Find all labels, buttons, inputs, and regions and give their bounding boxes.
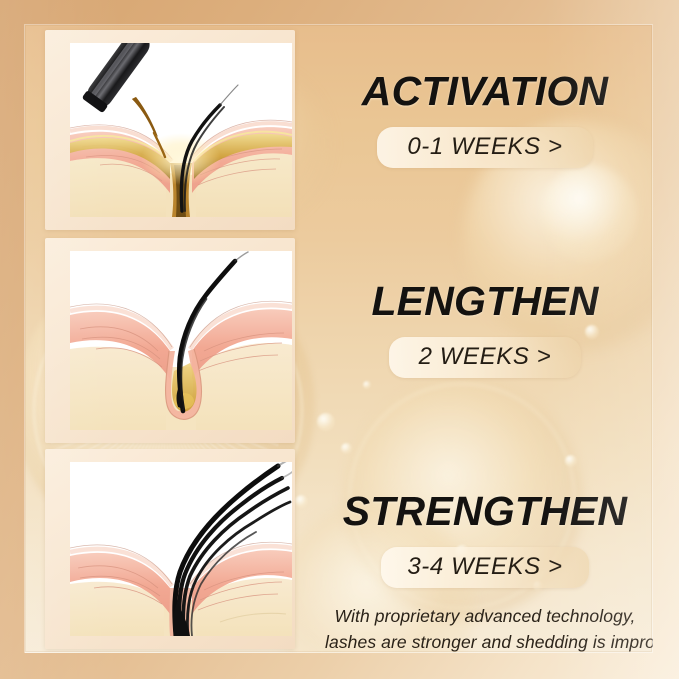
single-long-lash-follicle-icon [70, 251, 292, 430]
step-title-lengthen: LENGTHEN [325, 281, 645, 323]
droplet-icon [317, 413, 335, 431]
step-text-strengthen: STRENGTHEN 3-4 WEEKS > With proprietary … [325, 491, 645, 653]
step-text-lengthen: LENGTHEN 2 WEEKS > [325, 281, 645, 378]
step-illustration-lengthen [45, 238, 295, 443]
step-illustration-activation [45, 30, 295, 230]
poster-canvas: ACTIVATION 0-1 WEEKS > LENGTHEN 2 WEEKS … [25, 25, 653, 653]
droplet-icon [295, 495, 308, 508]
illustration-image-strengthen [70, 462, 292, 636]
step-badge-lengthen[interactable]: 2 WEEKS > [389, 337, 582, 378]
step-description-line-2: lashes are stronger and shedding is impr… [325, 630, 645, 653]
step-badge-activation[interactable]: 0-1 WEEKS > [377, 127, 592, 168]
step-description: With proprietary advanced technology, la… [325, 604, 645, 653]
serum-applicator-on-follicle-icon [70, 43, 292, 217]
step-title-strengthen: STRENGTHEN [325, 491, 645, 533]
droplet-icon [363, 381, 371, 389]
illustration-image-activation [70, 43, 292, 217]
droplet-icon [565, 455, 577, 467]
step-badge-strengthen[interactable]: 3-4 WEEKS > [381, 547, 588, 588]
infographic-poster: ACTIVATION 0-1 WEEKS > LENGTHEN 2 WEEKS … [0, 0, 679, 679]
step-illustration-strengthen [45, 449, 295, 649]
illustration-image-lengthen [70, 251, 292, 430]
step-title-activation: ACTIVATION [325, 71, 645, 113]
step-description-line-1: With proprietary advanced technology, [325, 604, 645, 630]
step-text-activation: ACTIVATION 0-1 WEEKS > [325, 71, 645, 168]
droplet-icon [341, 443, 352, 454]
multiple-thick-lashes-follicle-icon [70, 462, 292, 636]
bubble-top-right-small-icon [541, 165, 637, 261]
